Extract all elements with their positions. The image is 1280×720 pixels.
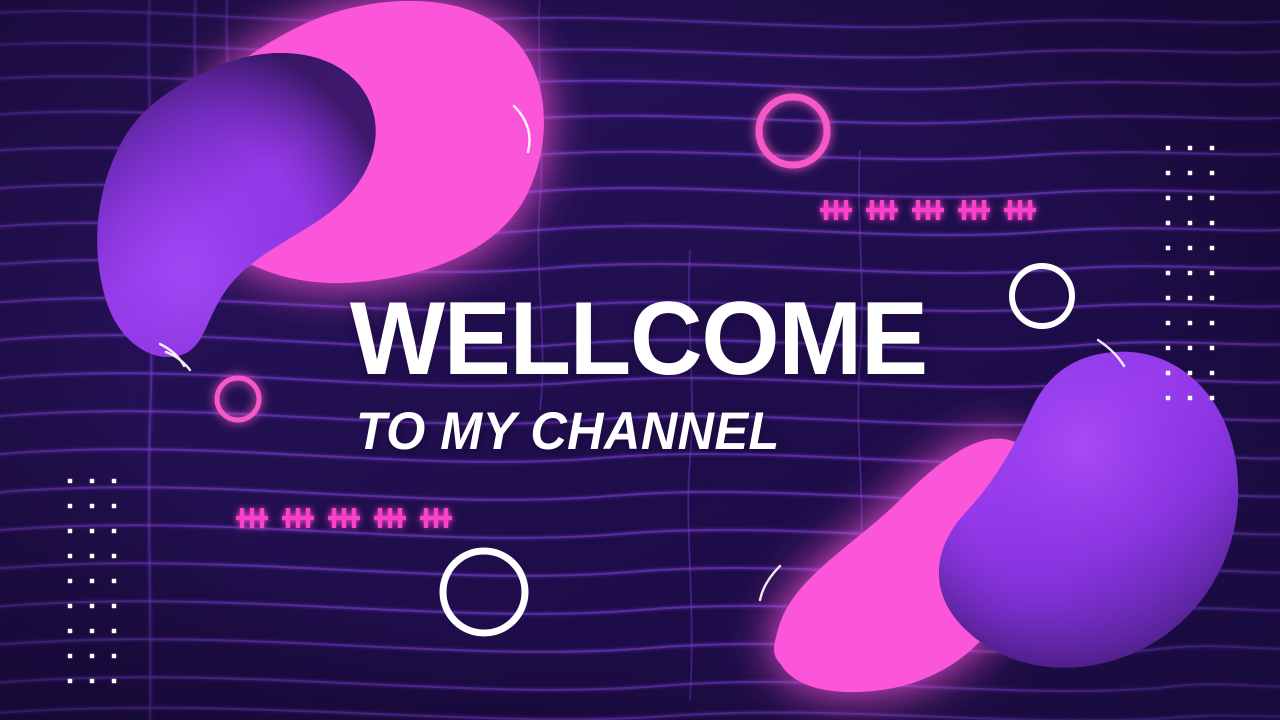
arc-accents xyxy=(160,106,1124,600)
ring-white-bottom-icon xyxy=(443,551,525,633)
arc-accent-right xyxy=(1098,340,1124,366)
arc-accent-bottom-left xyxy=(760,566,780,600)
ring-pink-top-right-icon xyxy=(759,97,827,165)
arc-accent-top-left xyxy=(514,106,529,152)
tally-bottom-left-icon xyxy=(236,508,452,528)
dot-grid-bottom-left-icon xyxy=(68,479,116,683)
accent-layer xyxy=(0,0,1280,720)
tally-top-right-icon xyxy=(820,200,1036,220)
ring-white-right-icon xyxy=(1012,266,1072,326)
ring-pink-left-icon xyxy=(217,378,259,420)
dot-grid-right-icon xyxy=(1166,146,1214,400)
banner-canvas: WELLCOME TO MY CHANNEL xyxy=(0,0,1280,720)
arc-accent-bean-bottom xyxy=(166,352,190,370)
